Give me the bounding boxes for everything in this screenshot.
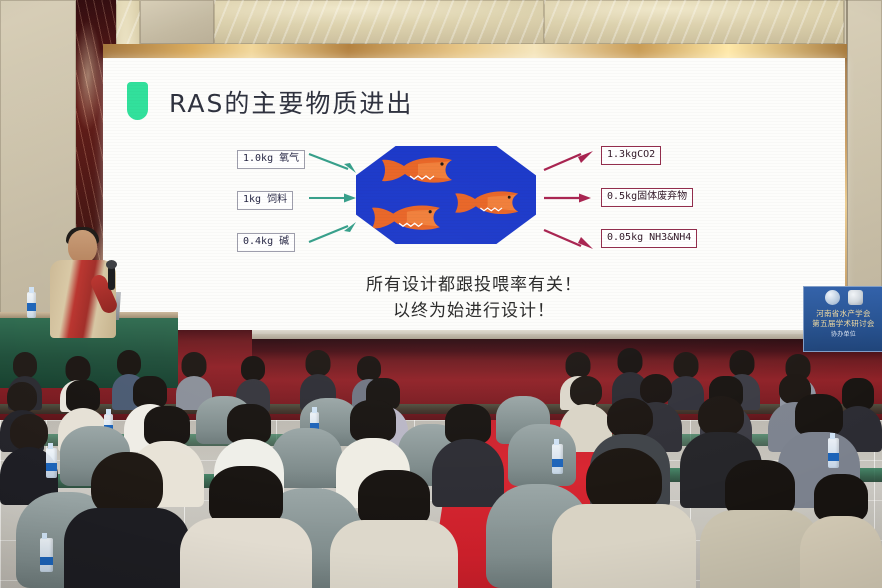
slide-footer-line-1: 所有设计都跟投喂率有关！ — [103, 270, 845, 295]
wall-panel — [544, 0, 844, 44]
input-label-feed: 1kg 饲料 — [237, 191, 293, 210]
slide-footer-line-2: 以终为始进行设计！ — [103, 296, 845, 321]
sponsor-logo-icon — [848, 290, 863, 305]
wall-panel — [214, 0, 544, 44]
arrow-output-co2 — [543, 146, 599, 179]
fish-tank-octagon — [356, 146, 536, 244]
wall-panel — [140, 0, 214, 44]
water-bottle — [828, 438, 839, 468]
banner-line-3: 协办单位 — [804, 329, 882, 338]
water-bottle — [27, 292, 36, 318]
output-label-ammonia: 0.05kg NH3&NH4 — [601, 229, 697, 248]
audience-member — [800, 474, 882, 588]
fish-icon — [448, 188, 520, 219]
arrow-input-feed — [308, 191, 360, 210]
water-bottle — [40, 538, 53, 572]
audience-member — [64, 452, 190, 588]
slide-title: RAS的主要物质进出 — [169, 84, 413, 120]
arrow-input-alkali — [308, 218, 364, 251]
banner-logos — [804, 290, 882, 307]
output-label-co2: 1.3kgCO2 — [601, 146, 661, 165]
input-label-alkali: 0.4kg 碱 — [237, 233, 295, 252]
audience-member — [552, 448, 696, 588]
arrow-output-ammonia — [543, 226, 599, 259]
input-label-oxygen: 1.0kg 氧气 — [237, 150, 305, 169]
projection-screen: RAS的主要物质进出 — [103, 58, 845, 334]
speaker — [46, 230, 124, 340]
title-accent-bar — [127, 82, 148, 120]
sponsor-banner: 河南省水产学会 第五届学术研讨会 协办单位 — [803, 286, 882, 352]
microphone — [108, 266, 115, 290]
speaker-head — [68, 230, 97, 263]
conference-room-photo: RAS的主要物质进出 — [0, 0, 882, 588]
audience-member — [180, 466, 312, 588]
fish-icon — [374, 154, 454, 188]
society-logo-icon — [825, 290, 840, 305]
screen-top-trim — [103, 44, 847, 58]
stage-edge-trim — [250, 330, 882, 339]
fish-icon — [364, 202, 442, 235]
output-label-solids: 0.5kg固体废弃物 — [601, 188, 693, 207]
audience-member — [330, 470, 458, 588]
water-bottle — [46, 448, 57, 478]
arrow-output-solids — [543, 191, 595, 210]
arrow-input-oxygen — [308, 150, 364, 181]
banner-line-2: 第五届学术研讨会 — [804, 318, 882, 329]
